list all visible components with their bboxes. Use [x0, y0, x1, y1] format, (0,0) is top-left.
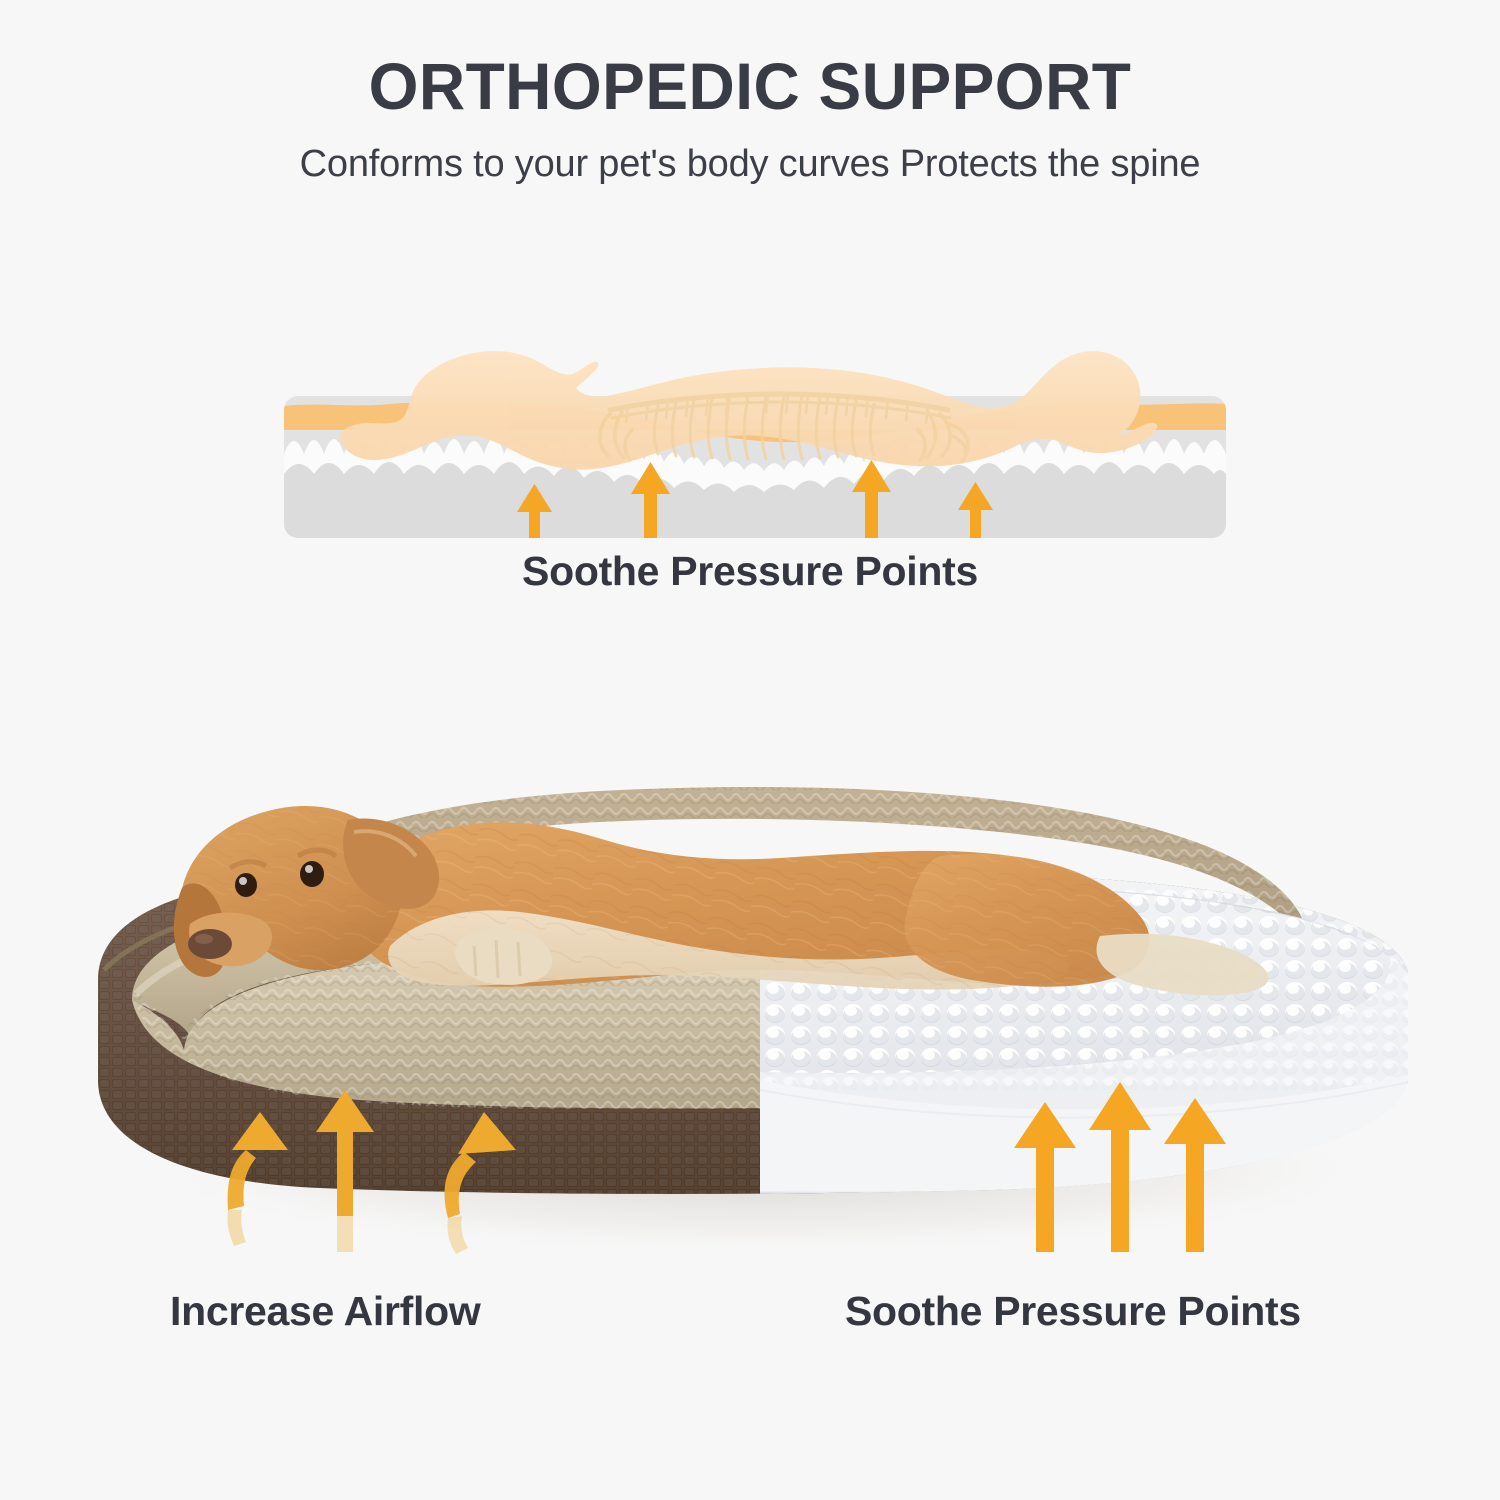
dog-eye-right [300, 861, 324, 887]
page-title: ORTHOPEDIC SUPPORT [23, 52, 1478, 121]
product-photo [60, 650, 1450, 1290]
product-infographic: ORTHOPEDIC SUPPORT Conforms to your pet'… [0, 0, 1500, 1500]
caption-increase-airflow: Increase Airflow [170, 1288, 480, 1335]
page-subtitle: Conforms to your pet's body curves Prote… [0, 143, 1500, 186]
pressure-arrows-bottom [1014, 1082, 1226, 1252]
dog-eye-left [235, 873, 257, 897]
caption-soothe-pressure-points: Soothe Pressure Points [845, 1288, 1301, 1335]
foam-cross-section-diagram [280, 278, 1230, 538]
diagram-caption: Soothe Pressure Points [0, 548, 1500, 595]
header-block: ORTHOPEDIC SUPPORT Conforms to your pet'… [0, 52, 1500, 186]
dog-nose [188, 929, 232, 959]
